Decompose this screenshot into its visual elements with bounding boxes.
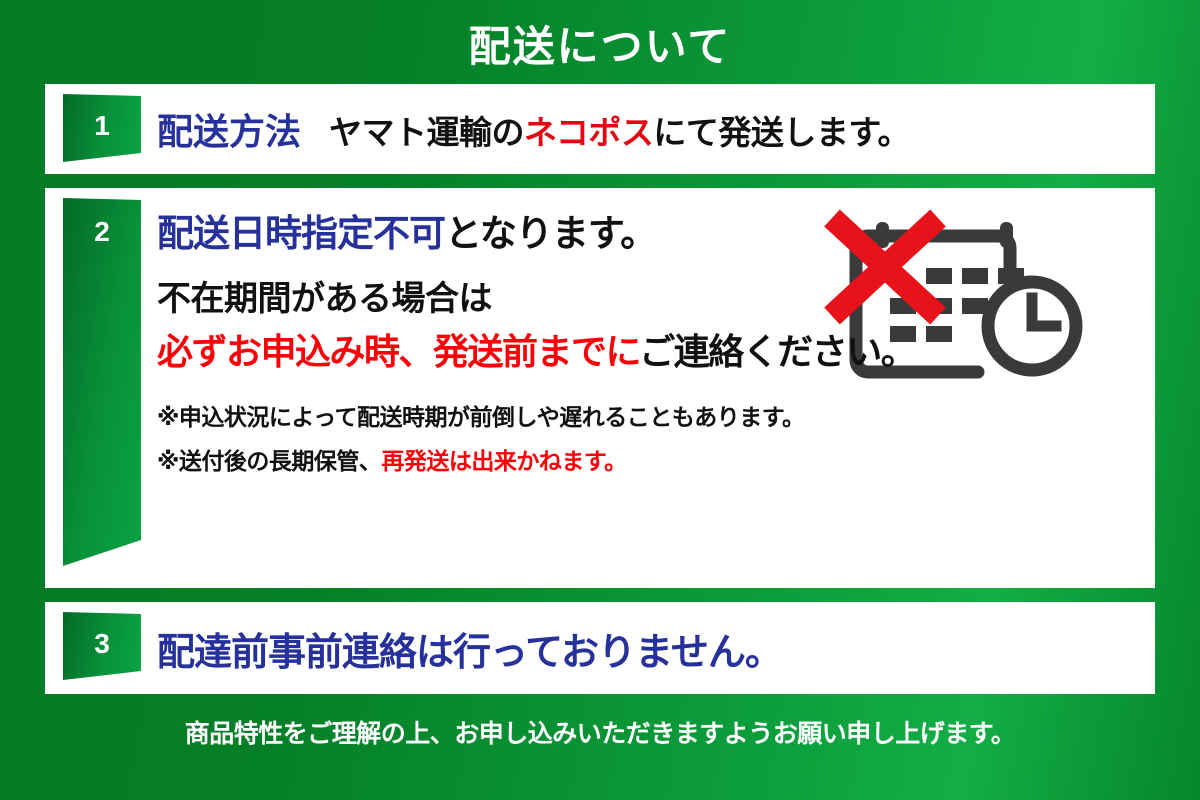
section-2-headline: 配送日時指定不可となります。 — [157, 214, 1155, 255]
section-2-headline-highlight: 配送日時指定不可 — [157, 213, 445, 254]
footer-note: 商品特性をご理解の上、お申し込みいただきますようお願い申し上げます。 — [0, 714, 1200, 750]
section-1-label: 配送方法 — [157, 103, 301, 155]
section-2-note-2: ※送付後の長期保管、再発送は出来かねます。 — [157, 442, 1155, 476]
section-1-shipping-method: 1 配送方法 ヤマト運輸のネコポスにて発送します。 — [45, 84, 1155, 174]
section-1-text-part-1: ヤマト運輸の — [329, 114, 524, 151]
section-2-number-badge: 2 — [63, 198, 141, 566]
section-1-text-part-2: にて発送します。 — [653, 114, 910, 151]
section-2-content: 配送日時指定不可となります。 不在期間がある場合は 必ずお申込み時、発送前までに… — [157, 188, 1155, 476]
section-3-no-advance-contact: 3 配達前事前連絡は行っておりません。 — [45, 602, 1155, 694]
page-title: 配送について — [0, 26, 1200, 68]
section-2-no-date-designation: 2 — [45, 188, 1155, 588]
section-2-subline: 不在期間がある場合は — [157, 281, 1155, 318]
section-2-note-2-part-1: ※送付後の長期保管、 — [157, 448, 381, 474]
section-1-text: ヤマト運輸のネコポスにて発送します。 — [329, 106, 910, 154]
section-3-number-badge: 3 — [63, 612, 141, 680]
section-2-callout-highlight: 必ずお申込み時、発送前までに — [157, 331, 639, 372]
shipping-info-poster: 配送について 1 配送方法 ヤマト運輸のネコポスにて発送します。 2 — [0, 0, 1200, 800]
section-2-note-2-highlight: 再発送は出来かねます。 — [381, 448, 626, 474]
section-1-text-highlight: ネコポス — [524, 114, 653, 151]
section-2-notes: ※申込状況によって配送時期が前倒しや遅れることもあります。 ※送付後の長期保管、… — [157, 398, 1155, 476]
section-1-number-badge: 1 — [63, 94, 141, 162]
section-2-headline-suffix: となります。 — [445, 213, 656, 254]
section-2-callout: 必ずお申込み時、発送前までにご連絡ください。 — [157, 332, 1155, 372]
section-2-note-1: ※申込状況によって配送時期が前倒しや遅れることもあります。 — [157, 398, 1155, 432]
section-1-body: 配送方法 ヤマト運輸のネコポスにて発送します。 — [157, 103, 910, 155]
section-3-text: 配達前事前連絡は行っておりません。 — [157, 621, 782, 676]
section-2-callout-suffix: ご連絡ください。 — [639, 331, 915, 372]
